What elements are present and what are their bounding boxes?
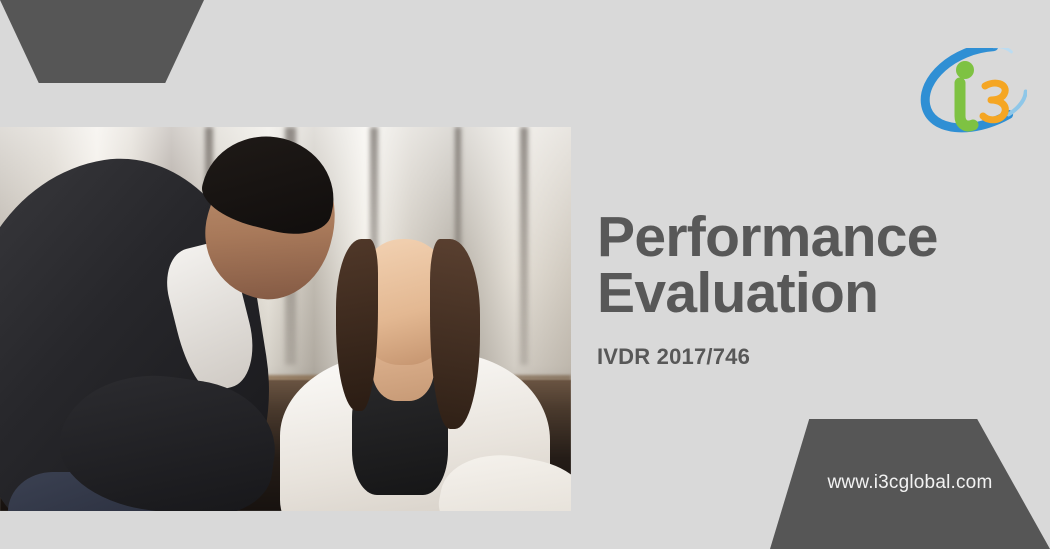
website-url[interactable]: www.i3cglobal.com: [770, 472, 1050, 494]
i3-logo[interactable]: [915, 48, 1027, 140]
page-title: Performance Evaluation: [597, 210, 1017, 322]
photo-background-scene: [0, 127, 571, 511]
woman-hair-strand-left: [336, 239, 378, 411]
woman-hair-strand-right: [430, 239, 480, 429]
hero-photo: [0, 127, 571, 511]
page-subtitle: IVDR 2017/746: [597, 344, 1017, 370]
hero-text-block: Performance Evaluation IVDR 2017/746: [597, 210, 1017, 370]
marketing-banner: Performance Evaluation IVDR 2017/746 www…: [0, 0, 1050, 549]
decorative-trapezoid-top-left: [0, 0, 204, 83]
logo-dot-icon: [956, 61, 974, 79]
window-mullion-icon: [520, 127, 528, 365]
page-title-line-2: Evaluation: [597, 266, 1017, 322]
page-title-line-1: Performance: [597, 210, 1017, 266]
